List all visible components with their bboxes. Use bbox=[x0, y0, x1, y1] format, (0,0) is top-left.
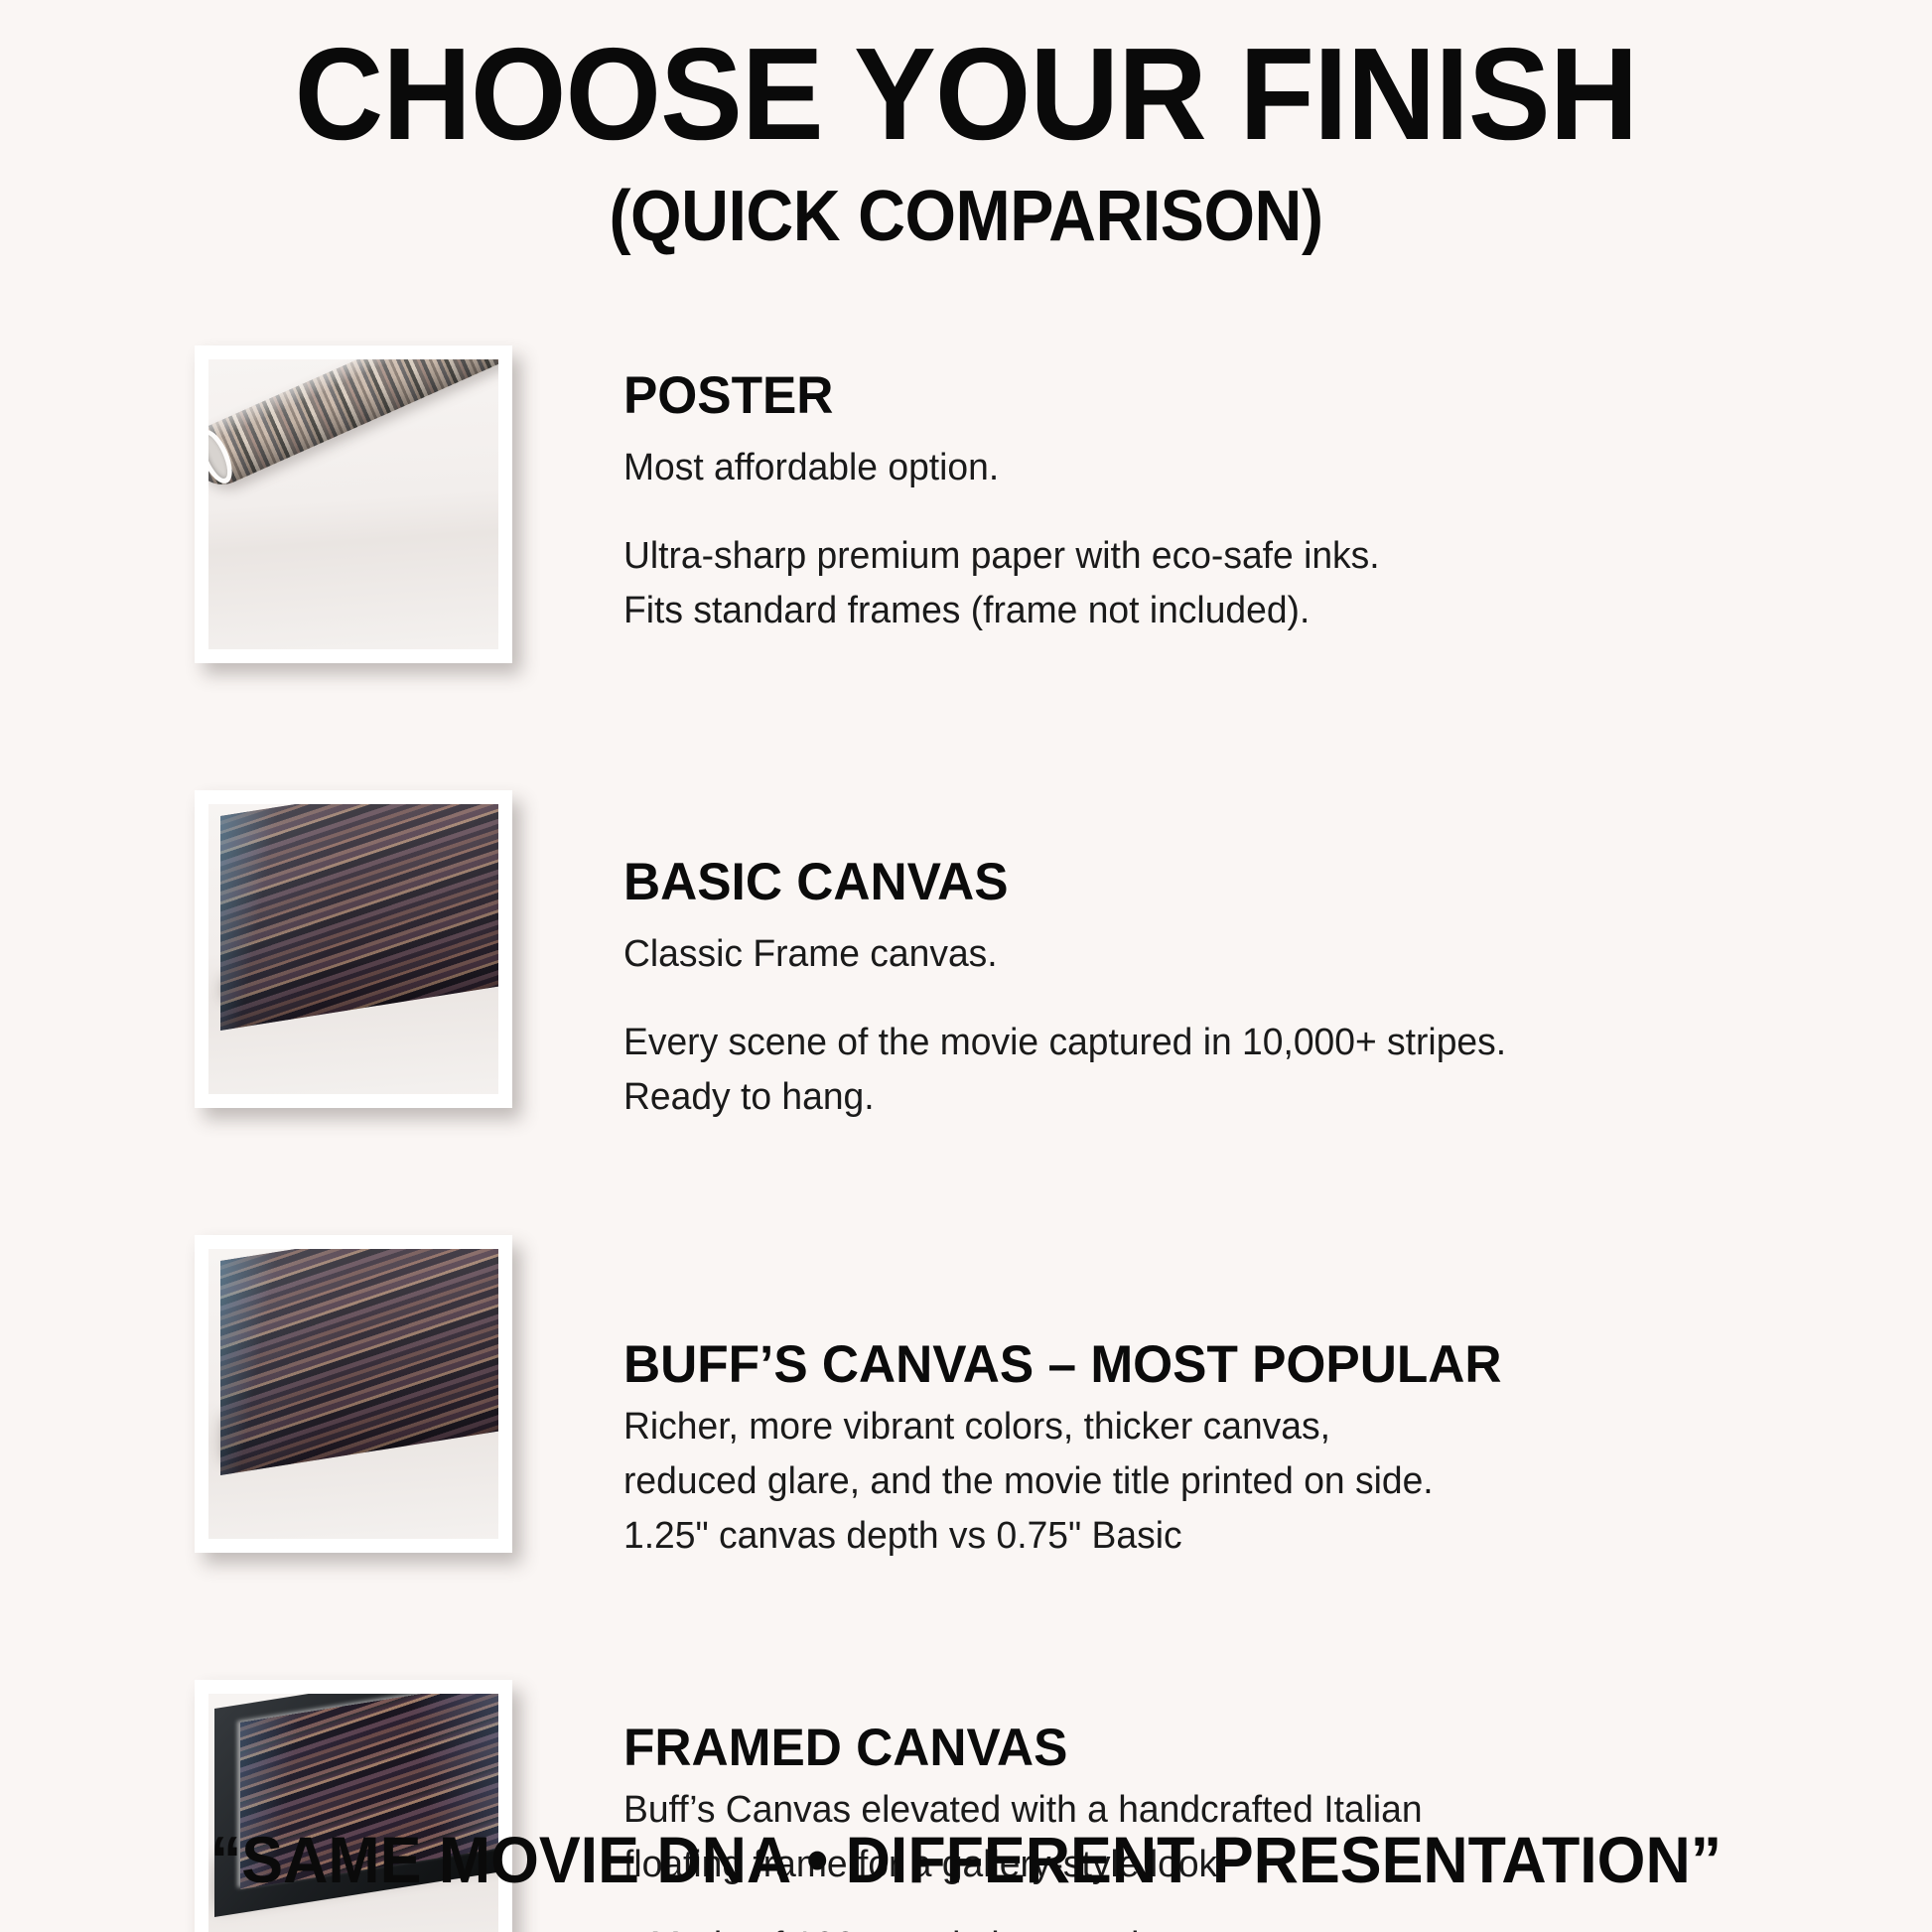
thumbnail-card bbox=[195, 790, 512, 1108]
canvas-slab-icon bbox=[220, 1261, 498, 1475]
product-title: POSTER bbox=[623, 367, 1760, 425]
product-title: BUFF’S CANVAS – MOST POPULAR bbox=[623, 1336, 1760, 1394]
list-item: BASIC CANVAS Classic Frame canvas. Every… bbox=[0, 772, 1932, 1217]
body-line: Every scene of the movie captured in 10,… bbox=[623, 1016, 1771, 1070]
thumbnail-card bbox=[195, 345, 512, 663]
tube-end-icon bbox=[208, 425, 239, 488]
product-info: BUFF’S CANVAS – MOST POPULAR Richer, mor… bbox=[623, 1336, 1795, 1563]
body-line: reduced glare, and the movie title print… bbox=[623, 1454, 1771, 1509]
thumbnail-image bbox=[208, 804, 498, 1094]
list-item: POSTER Most affordable option. Ultra-sha… bbox=[0, 328, 1932, 772]
footer: “SAME MOVIE DNA • DIFFERENT PRESENTATION… bbox=[0, 1824, 1932, 1896]
product-list: POSTER Most affordable option. Ultra-sha… bbox=[0, 328, 1932, 1932]
product-thumbnail-buffs-canvas[interactable] bbox=[195, 1235, 512, 1553]
page-subtitle: (QUICK COMPARISON) bbox=[77, 180, 1855, 255]
header: CHOOSE YOUR FINISH (QUICK COMPARISON) bbox=[0, 28, 1932, 254]
product-title: BASIC CANVAS bbox=[623, 854, 1760, 911]
thumbnail-image bbox=[208, 1249, 498, 1539]
product-lead: Classic Frame canvas. bbox=[623, 927, 1771, 982]
product-body: Every scene of the movie captured in 10,… bbox=[623, 1016, 1771, 1124]
product-body: Ultra-sharp premium paper with eco-safe … bbox=[623, 529, 1771, 637]
thumbnail-card bbox=[195, 1235, 512, 1553]
product-lead: Most affordable option. bbox=[623, 441, 1771, 495]
product-info: BASIC CANVAS Classic Frame canvas. Every… bbox=[623, 854, 1795, 1124]
canvas-slab-icon bbox=[220, 816, 498, 1031]
product-title: FRAMED CANVAS bbox=[623, 1720, 1760, 1777]
product-thumbnail-basic-canvas[interactable] bbox=[195, 790, 512, 1108]
body-line: Richer, more vibrant colors, thicker can… bbox=[623, 1400, 1771, 1454]
feature-bullet-list: Made of 100% real pine wood Toxins-free.… bbox=[623, 1918, 1795, 1932]
body-line: Ultra-sharp premium paper with eco-safe … bbox=[623, 529, 1771, 584]
body-line: 1.25" canvas depth vs 0.75" Basic bbox=[623, 1509, 1771, 1564]
product-thumbnail-poster[interactable] bbox=[195, 345, 512, 663]
feature-bullet: Made of 100% real pine wood bbox=[623, 1918, 1771, 1932]
product-body: Richer, more vibrant colors, thicker can… bbox=[623, 1400, 1771, 1563]
infographic-page: CHOOSE YOUR FINISH (QUICK COMPARISON) PO… bbox=[0, 0, 1932, 1932]
body-line: Fits standard frames (frame not included… bbox=[623, 584, 1771, 638]
thumbnail-image bbox=[208, 359, 498, 649]
page-title: CHOOSE YOUR FINISH bbox=[58, 28, 1873, 162]
canvas-face bbox=[220, 804, 498, 1031]
body-line: Ready to hang. bbox=[623, 1070, 1771, 1125]
product-info: POSTER Most affordable option. Ultra-sha… bbox=[623, 367, 1795, 637]
footer-tagline: “SAME MOVIE DNA • DIFFERENT PRESENTATION… bbox=[49, 1824, 1884, 1896]
list-item: BUFF’S CANVAS – MOST POPULAR Richer, mor… bbox=[0, 1217, 1932, 1662]
canvas-face bbox=[220, 1249, 498, 1475]
